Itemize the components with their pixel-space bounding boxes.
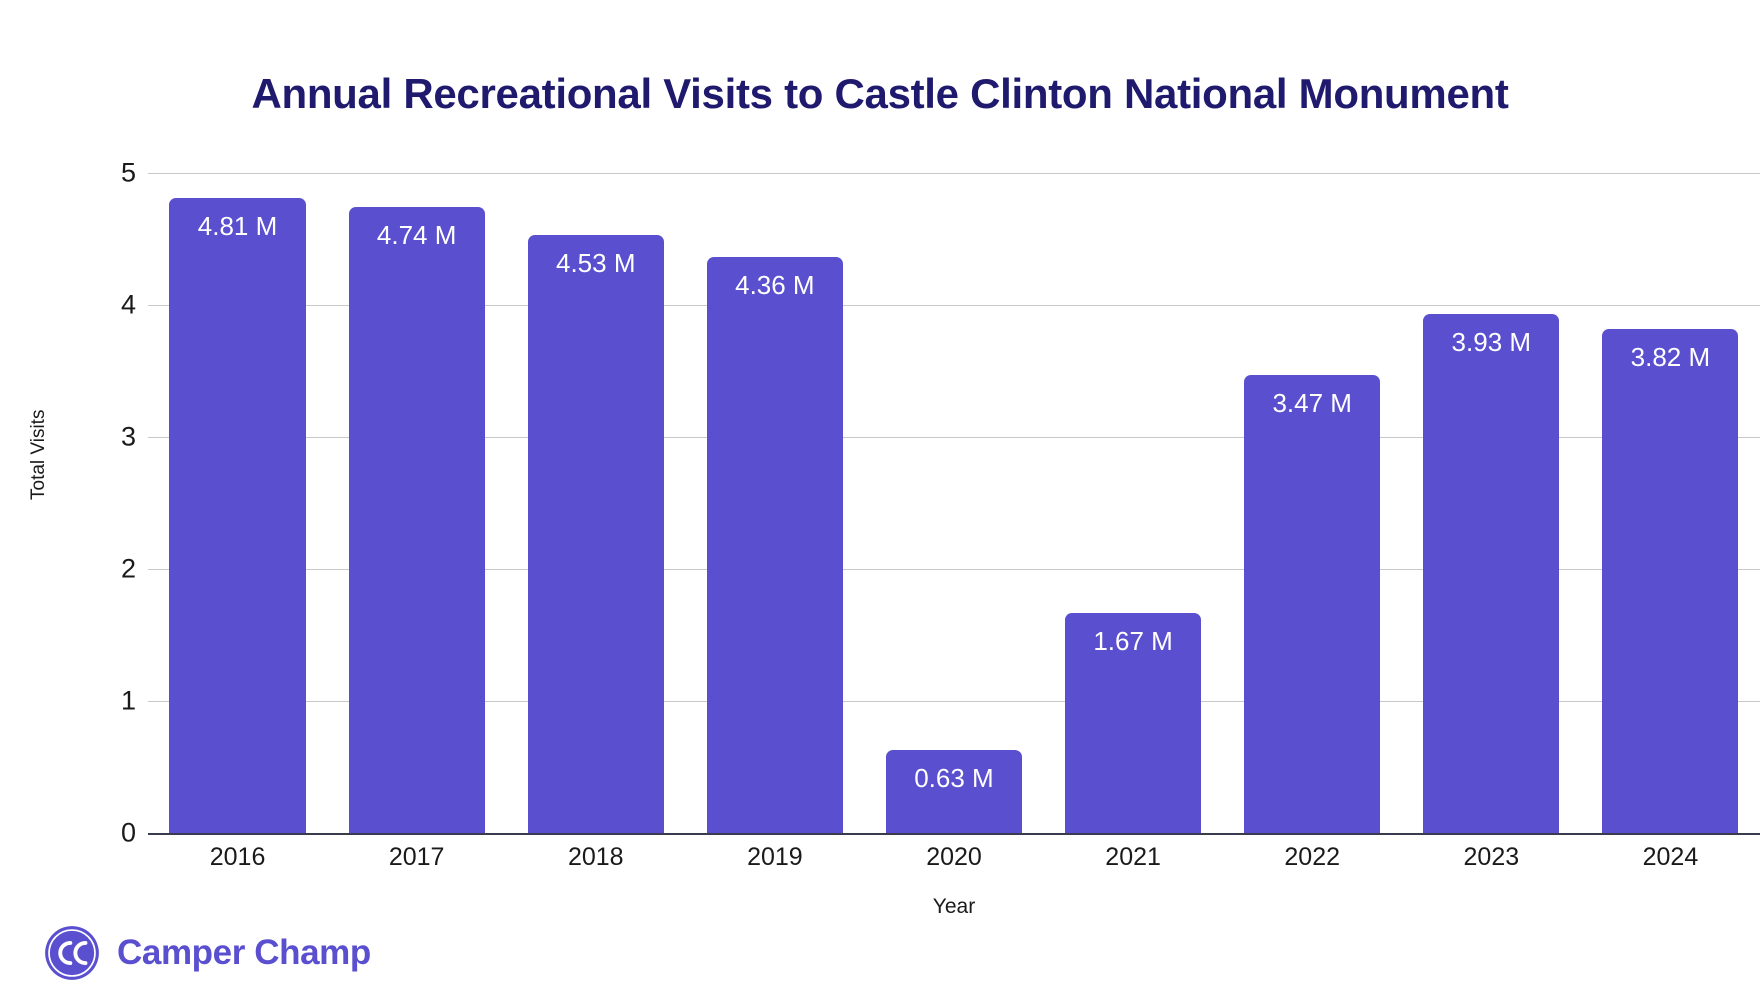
y-tick-label: 5 — [76, 158, 136, 189]
x-tick-label: 2019 — [747, 843, 803, 872]
bar-value-label: 4.36 M — [707, 270, 843, 301]
bar[interactable]: 3.82 M — [1602, 329, 1738, 833]
brand-name: Camper Champ — [117, 933, 371, 973]
bar[interactable]: 3.93 M — [1423, 314, 1559, 833]
bar[interactable]: 4.74 M — [349, 207, 485, 833]
y-tick-label: 3 — [76, 422, 136, 453]
bar-value-label: 4.81 M — [169, 211, 305, 242]
x-tick-label: 2023 — [1464, 843, 1520, 872]
bar-value-label: 4.74 M — [349, 220, 485, 251]
bar[interactable]: 4.81 M — [169, 198, 305, 833]
x-tick-label: 2022 — [1284, 843, 1340, 872]
bar[interactable]: 3.47 M — [1244, 375, 1380, 833]
y-tick-label: 4 — [76, 290, 136, 321]
camper-champ-logo-icon — [44, 925, 100, 981]
bar-value-label: 1.67 M — [1065, 626, 1201, 657]
bar-value-label: 3.82 M — [1602, 342, 1738, 373]
bar-slot: 4.81 M — [148, 173, 327, 833]
x-tick-label: 2021 — [1105, 843, 1161, 872]
chart-page: Annual Recreational Visits to Castle Cli… — [0, 0, 1760, 1000]
bar[interactable]: 1.67 M — [1065, 613, 1201, 833]
y-tick-label: 2 — [76, 554, 136, 585]
x-tick-label: 2017 — [389, 843, 445, 872]
brand-footer: Camper Champ — [44, 925, 371, 981]
chart-title: Annual Recreational Visits to Castle Cli… — [0, 70, 1760, 118]
y-tick-label: 0 — [76, 818, 136, 849]
plot-area: 4.81 M4.74 M4.53 M4.36 M0.63 M1.67 M3.47… — [148, 173, 1760, 833]
bar[interactable]: 0.63 M — [886, 750, 1022, 833]
bar-slot: 1.67 M — [1044, 173, 1223, 833]
x-tick-label: 2016 — [210, 843, 266, 872]
bar-slot: 0.63 M — [864, 173, 1043, 833]
bar-value-label: 3.47 M — [1244, 388, 1380, 419]
bar-slot: 3.82 M — [1581, 173, 1760, 833]
bar-value-label: 0.63 M — [886, 763, 1022, 794]
bar-value-label: 3.93 M — [1423, 327, 1559, 358]
x-tick-label: 2024 — [1643, 843, 1699, 872]
bar-series: 4.81 M4.74 M4.53 M4.36 M0.63 M1.67 M3.47… — [148, 173, 1760, 833]
bar-value-label: 4.53 M — [528, 248, 664, 279]
x-tick-label: 2020 — [926, 843, 982, 872]
bar[interactable]: 4.36 M — [707, 257, 843, 833]
x-tick-label: 2018 — [568, 843, 624, 872]
bar-slot: 4.74 M — [327, 173, 506, 833]
y-axis-title: Total Visits — [28, 410, 50, 500]
bar-slot: 3.47 M — [1223, 173, 1402, 833]
x-axis-line — [148, 833, 1760, 835]
bar-slot: 3.93 M — [1402, 173, 1581, 833]
x-axis-title: Year — [148, 895, 1760, 919]
bar[interactable]: 4.53 M — [528, 235, 664, 833]
bar-slot: 4.36 M — [685, 173, 864, 833]
bar-slot: 4.53 M — [506, 173, 685, 833]
y-tick-label: 1 — [76, 686, 136, 717]
